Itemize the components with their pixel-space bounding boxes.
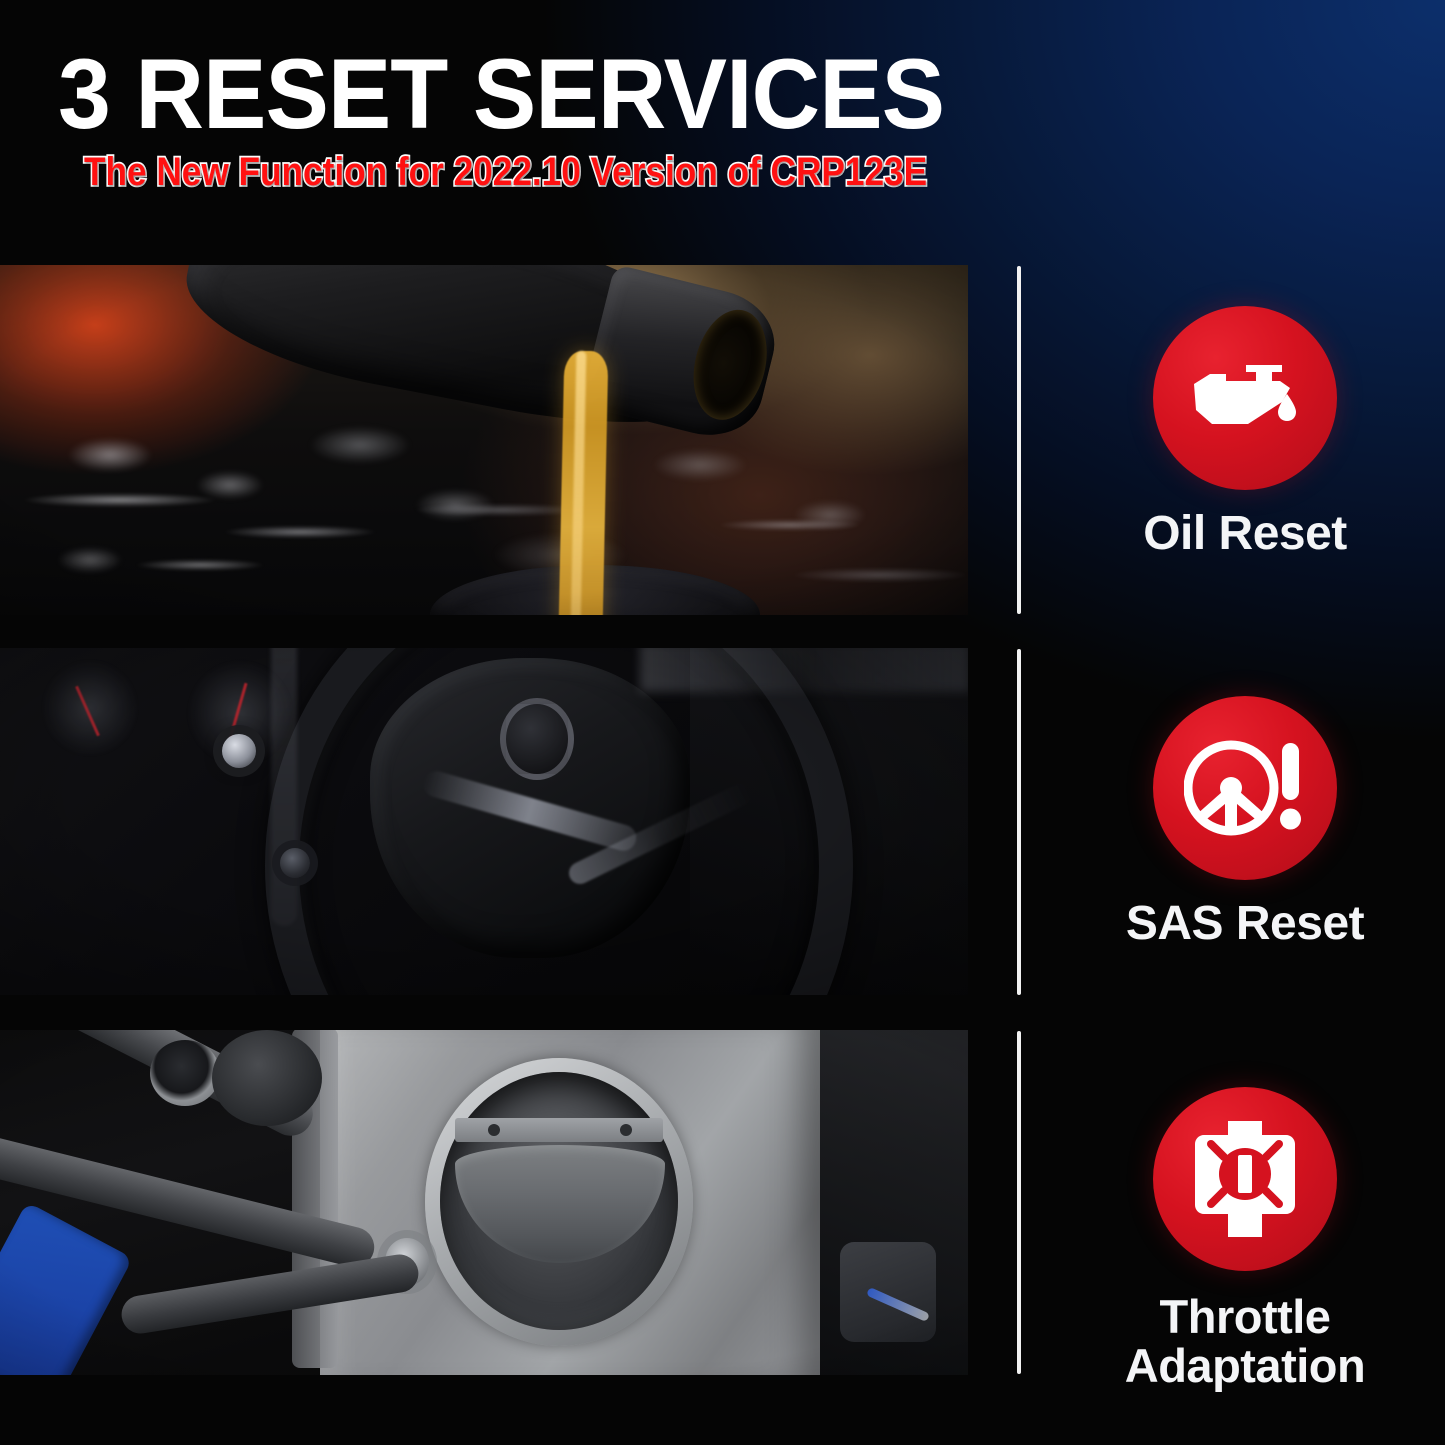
oil-pour-photo	[0, 265, 968, 615]
divider-line-1	[1017, 266, 1021, 614]
feature-sas-reset: SAS Reset	[1060, 696, 1430, 949]
page-title: 3 RESET SERVICES	[58, 44, 944, 143]
oil-reset-badge	[1153, 306, 1337, 490]
divider-line-3	[1017, 1031, 1021, 1374]
feature-label-throttle-adaptation: Throttle Adaptation	[1125, 1293, 1365, 1391]
feature-label-sas-reset: SAS Reset	[1126, 900, 1364, 949]
sas-reset-badge	[1153, 696, 1337, 880]
feature-throttle-adaptation: Throttle Adaptation	[1060, 1087, 1430, 1391]
page-subtitle: The New Function for 2022.10 Version of …	[84, 152, 927, 192]
promo-banner: 3 RESET SERVICES The New Function for 20…	[0, 0, 1445, 1445]
oil-can-icon	[1186, 348, 1304, 448]
header: 3 RESET SERVICES The New Function for 20…	[0, 0, 1445, 250]
feature-oil-reset: Oil Reset	[1060, 306, 1430, 559]
throttle-body-photo	[0, 1030, 968, 1375]
throttle-body-icon	[1190, 1119, 1300, 1239]
throttle-adaptation-badge	[1153, 1087, 1337, 1271]
divider-line-2	[1017, 649, 1021, 995]
steering-wheel-alert-icon	[1184, 735, 1306, 841]
page-subtitle-wrap: The New Function for 2022.10 Version of …	[84, 152, 1042, 192]
steering-photo-vignette	[0, 648, 968, 995]
steering-wheel-photo	[0, 648, 968, 995]
feature-label-oil-reset: Oil Reset	[1143, 510, 1347, 559]
throttle-photo-vignette	[0, 1030, 968, 1375]
oil-photo-vignette	[0, 265, 968, 615]
